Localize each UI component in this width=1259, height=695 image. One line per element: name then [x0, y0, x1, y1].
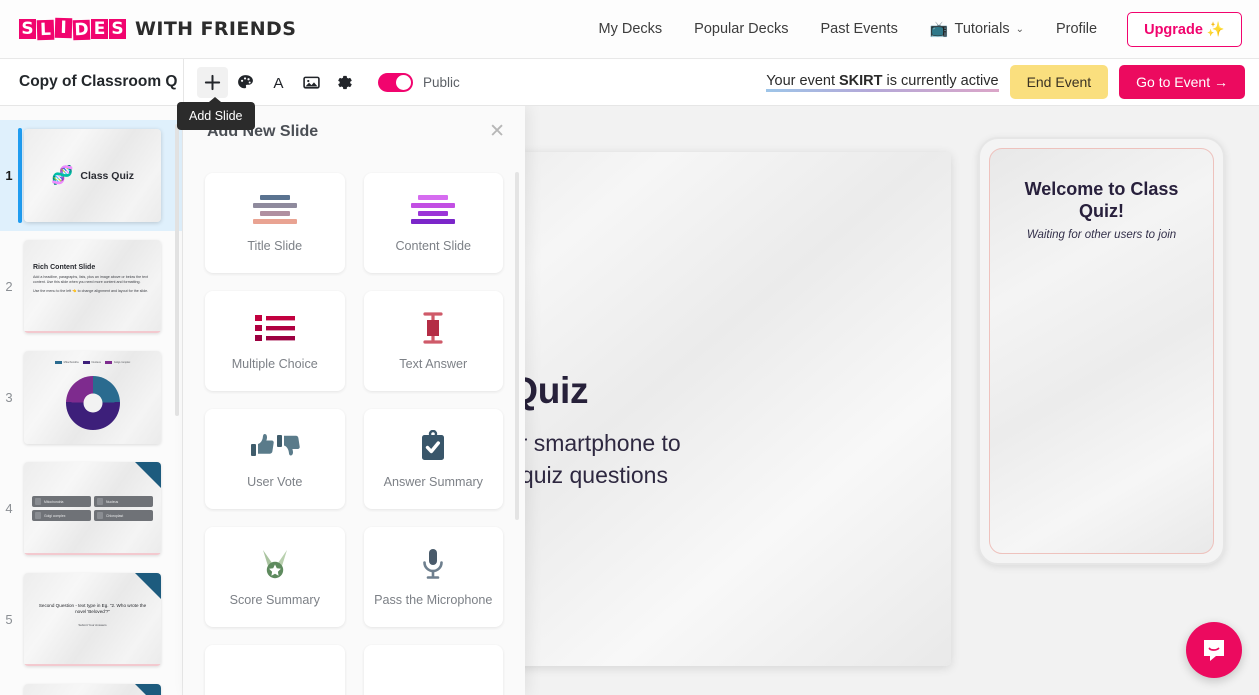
title-bars-icon [253, 194, 297, 226]
thumb-rich-content: Rich Content Slide Add a headline, parag… [33, 264, 152, 299]
slide-type-label: Score Summary [230, 593, 320, 607]
nav-item-popular-decks[interactable]: Popular Decks [678, 0, 804, 58]
slide-type-score-summary[interactable]: Score Summary [205, 527, 345, 627]
thumb-option: Nucleus [94, 496, 153, 507]
phone-text-block: Welcome to Class Quiz! Waiting for other… [1004, 179, 1199, 241]
slide-type-list: Title Slide Content Slide [183, 161, 525, 695]
chevron-down-icon: ⌄ [1016, 24, 1024, 35]
theme-palette-button[interactable] [230, 67, 261, 98]
thumb-submit-label: Submit Your Answers [36, 623, 149, 627]
add-new-slide-panel: Add New Slide ✕ Title Slide [183, 106, 525, 695]
slide-list-item[interactable]: 2 Rich Content Slide Add a headline, par… [0, 231, 182, 342]
nav-item-past-events[interactable]: Past Events [804, 0, 913, 58]
slide-list-item[interactable]: 1 🧬 Class Quiz [0, 120, 182, 231]
slide-type-label: Answer Summary [384, 475, 483, 489]
nav-item-tutorials[interactable]: 📺 Tutorials ⌄ [914, 0, 1040, 58]
thumb-option: Golgi complex [32, 510, 91, 521]
slide-type-label: User Vote [247, 475, 302, 489]
nav-item-profile[interactable]: Profile [1040, 0, 1113, 58]
legend-entry: Nucleus [83, 361, 101, 364]
slide-list-item[interactable]: 3 Mitochondria Nucleus Golgi complex [0, 342, 182, 453]
logo-wordmark: WITH FRIENDS [135, 18, 296, 40]
toolbar-tools: A Public [184, 67, 460, 98]
panel-scrollbar[interactable] [515, 172, 519, 520]
nav-links: My Decks Popular Decks Past Events 📺 Tut… [583, 0, 1259, 58]
option-letter-badge [35, 498, 41, 505]
settings-gear-button[interactable] [329, 67, 360, 98]
tv-icon: 📺 [930, 20, 949, 38]
slide-list-item[interactable]: 6 [0, 675, 182, 695]
slide-number: 5 [0, 612, 18, 627]
slide-type-label: Content Slide [395, 239, 471, 253]
gear-icon [335, 73, 354, 92]
end-event-button[interactable]: End Event [1010, 65, 1109, 99]
nav-item-label: My Decks [599, 21, 663, 37]
deck-title-input[interactable]: Copy of Classroom Q [0, 73, 183, 91]
thumb-corner-ribbon [135, 462, 161, 488]
nav-item-label: Tutorials [955, 21, 1010, 37]
slide-type-grid: Title Slide Content Slide [205, 173, 503, 695]
slide-number: 4 [0, 501, 18, 516]
logo-tile: S [109, 19, 126, 39]
slide-number: 1 [0, 168, 18, 183]
nav-item-label: Popular Decks [694, 21, 788, 37]
slide-number: 3 [0, 390, 18, 405]
image-icon [302, 73, 321, 92]
option-letter-badge [97, 512, 103, 519]
svg-text:A: A [273, 75, 284, 92]
phone-preview-frame: Welcome to Class Quiz! Waiting for other… [978, 137, 1225, 565]
option-letter-badge [97, 498, 103, 505]
slide-list-item[interactable]: 4 Mitochondria Nucleus Golgi complex Chl… [0, 453, 182, 564]
slide-type-answer-summary[interactable]: Answer Summary [364, 409, 504, 509]
palette-icon [236, 73, 255, 92]
event-status-group: Your event SKIRT is currently active End… [766, 65, 1259, 99]
insert-image-button[interactable] [296, 67, 327, 98]
slide-list-item[interactable]: 5 Second Question - text type in Eg. "2.… [0, 564, 182, 675]
text-cursor-icon [420, 312, 446, 344]
text-format-button[interactable]: A [263, 67, 294, 98]
thumb-accent-line [24, 331, 161, 333]
dna-icon: 🧬 [51, 165, 73, 186]
legend-entry: Mitochondria [55, 361, 79, 364]
intercom-chat-icon [1200, 636, 1228, 664]
slide-list: 1 🧬 Class Quiz 2 Rich Content Slide Add … [0, 106, 182, 695]
option-letter-badge [35, 512, 41, 519]
thumb-paragraph: Add a headline, paragraphs, lists, plus … [33, 275, 152, 285]
thumb-question-text: Second Question - text type in Eg. "2. W… [36, 603, 149, 615]
slide-type-label: Pass the Microphone [374, 593, 492, 607]
thumb-accent-line [24, 664, 161, 666]
event-prefix: Your event [766, 73, 839, 89]
donut-graphic [66, 376, 120, 430]
slide-type-content-slide[interactable]: Content Slide [364, 173, 504, 273]
slide-type-extra[interactable] [364, 645, 504, 695]
logo-tile: I [55, 18, 73, 38]
slide-thumbnail[interactable]: 🧬 Class Quiz [24, 129, 161, 222]
thumb-options-grid: Mitochondria Nucleus Golgi complex Chlor… [32, 496, 153, 521]
close-icon[interactable]: ✕ [489, 122, 505, 141]
brand-logo[interactable]: S L I D E S WITH FRIENDS [19, 18, 296, 40]
bullet-list-icon [255, 312, 295, 344]
slide-list-sidebar[interactable]: 1 🧬 Class Quiz 2 Rich Content Slide Add … [0, 106, 183, 695]
nav-item-label: Profile [1056, 21, 1097, 37]
phone-title: Welcome to Class Quiz! [1004, 179, 1199, 222]
slide-thumbnail[interactable]: Second Question - text type in Eg. "2. W… [24, 573, 161, 666]
slide-thumbnail[interactable]: Rich Content Slide Add a headline, parag… [24, 240, 161, 333]
public-toggle[interactable] [378, 73, 413, 92]
plus-icon [203, 73, 222, 92]
thumb-option: Mitochondria [32, 496, 91, 507]
upgrade-button[interactable]: Upgrade ✨ [1127, 12, 1242, 47]
logo-tiles: S L I D E S [19, 19, 126, 39]
event-suffix: is currently active [883, 73, 999, 89]
slide-type-text-answer[interactable]: Text Answer [364, 291, 504, 391]
event-active-link[interactable]: Your event SKIRT is currently active [766, 73, 998, 92]
slide-type-label: Multiple Choice [232, 357, 318, 371]
event-code: SKIRT [839, 73, 883, 89]
slide-type-pass-the-microphone[interactable]: Pass the Microphone [364, 527, 504, 627]
nav-item-my-decks[interactable]: My Decks [583, 0, 679, 58]
chart-legend: Mitochondria Nucleus Golgi complex [24, 361, 161, 364]
slide-thumbnail[interactable] [24, 684, 161, 695]
toggle-knob [396, 75, 411, 90]
clipboard-check-icon [419, 430, 447, 462]
medal-star-icon [259, 548, 291, 580]
content-bars-icon [411, 194, 455, 226]
thumb-accent-line [24, 553, 161, 555]
legend-entry: Golgi complex [105, 361, 130, 364]
thumb-title: Class Quiz [80, 170, 134, 182]
slide-type-extra[interactable] [205, 645, 345, 695]
logo-tile: L [37, 20, 55, 41]
letter-a-icon: A [269, 73, 288, 92]
thumbs-up-down-icon [250, 430, 300, 462]
slide-type-user-vote[interactable]: User Vote [205, 409, 345, 509]
slide-type-multiple-choice[interactable]: Multiple Choice [205, 291, 345, 391]
thumb-donut-chart: Mitochondria Nucleus Golgi complex [24, 351, 161, 444]
slide-thumbnail[interactable]: Mitochondria Nucleus Golgi complex [24, 351, 161, 444]
slide-number: 2 [0, 279, 18, 294]
sidebar-scrollbar[interactable] [175, 124, 179, 416]
logo-tile: E [91, 19, 108, 39]
editor-toolbar: Copy of Classroom Q A [0, 59, 1259, 106]
thumb-paragraph: Use the menu to the left 👈 to change ali… [33, 289, 152, 294]
visibility-toggle-group: Public [378, 73, 460, 92]
thumb-heading: Rich Content Slide [33, 264, 152, 271]
logo-tile: S [19, 19, 36, 39]
microphone-icon [420, 548, 446, 580]
nav-item-label: Past Events [820, 21, 897, 37]
phone-subtitle: Waiting for other users to join [1004, 229, 1199, 241]
add-slide-tooltip: Add Slide [177, 102, 255, 130]
logo-tile: D [73, 20, 91, 41]
public-toggle-label: Public [423, 75, 460, 90]
thumb-option: Chloroplast [94, 510, 153, 521]
top-navigation-bar: S L I D E S WITH FRIENDS My Decks Popula… [0, 0, 1259, 59]
phone-screen: Welcome to Class Quiz! Waiting for other… [989, 148, 1214, 554]
slide-type-label: Title Slide [247, 239, 302, 253]
add-slide-button[interactable] [197, 67, 228, 98]
slide-type-label: Text Answer [399, 357, 467, 371]
slide-thumbnail[interactable]: Mitochondria Nucleus Golgi complex Chlor… [24, 462, 161, 555]
go-to-event-button[interactable]: Go to Event → [1119, 65, 1245, 99]
thumb-question: Second Question - text type in Eg. "2. W… [36, 603, 149, 627]
app-root: S L I D E S WITH FRIENDS My Decks Popula… [0, 0, 1259, 695]
thumb-corner-ribbon [135, 684, 161, 695]
slide-type-title-slide[interactable]: Title Slide [205, 173, 345, 273]
thumb-title-row: 🧬 Class Quiz [24, 129, 161, 222]
intercom-launcher-button[interactable] [1186, 622, 1242, 678]
thumb-corner-ribbon [135, 573, 161, 599]
